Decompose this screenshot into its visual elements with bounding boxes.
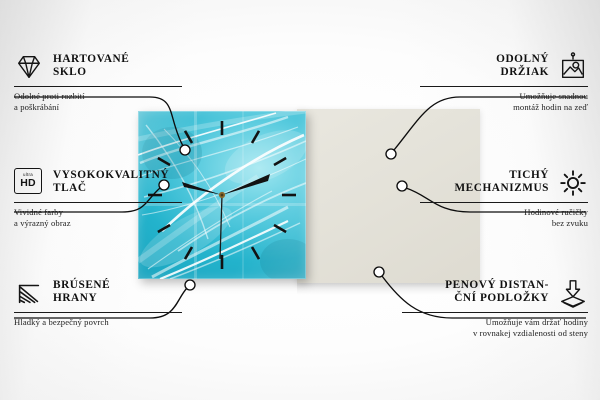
feature-desc-line1: Hladký a bezpečný povrch [14,317,109,327]
feature-desc-line1: Vividné farby [14,207,63,217]
feature-desc-line1: Umožňuje vám držať hodiny [486,317,588,327]
feature-heading: HARTOVANÉ SKLO [14,52,182,82]
feature-divider [402,312,588,313]
feature-divider [420,202,588,203]
feature-desc-line1: Hodinové ručičky [524,207,588,217]
feature-title-line1: PENOVÝ DISTAN- [445,279,549,291]
feature-title: BRÚSENÉ HRANY [53,278,110,306]
feature-description: Hodinové ručičky bez zvuku [420,207,588,229]
diamond-icon [14,52,44,82]
feature-title-line2: DRŽIAK [501,66,550,78]
feature-title-line2: TLAČ [53,182,87,194]
feature-beveled-edges: BRÚSENÉ HRANY Hladký a bezpečný povrch [14,278,182,328]
feature-description: Vividné farby a výrazný obraz [14,207,182,229]
feature-silent-mechanism: TICHÝ MECHANIZMUS Hodinové ručičky bez z… [420,168,588,229]
feature-title-line1: VYSOKOKVALITNÝ [53,169,169,181]
feature-foam-spacers: PENOVÝ DISTAN- ČNÍ PODLOŽKY Umožňuje vám… [402,278,588,339]
feature-description: Odolné proti rozbití a poškrábání [14,91,182,113]
feature-heading: ODOLNÝ DRŽIAK [420,52,588,82]
gear-icon [558,168,588,198]
feature-desc-line2: v rovnakej vzdialenosti od steny [473,328,588,338]
feature-title-line1: BRÚSENÉ [53,279,110,291]
feature-title-line1: HARTOVANÉ [53,53,129,65]
feature-description: Umožňuje snadnou montáž hodin na zeď [420,91,588,113]
feature-durable-hanger: ODOLNÝ DRŽIAK Umožňuje snadnou montáž ho… [420,52,588,113]
feature-desc-line2: montáž hodin na zeď [513,102,588,112]
feature-desc-line1: Umožňuje snadnou [519,91,588,101]
ultra-hd-badge-icon: ultra HD [14,168,44,198]
feature-divider [14,86,182,87]
feature-title-line1: ODOLNÝ [496,53,549,65]
feature-divider [14,312,182,313]
feature-desc-line2: a výrazný obraz [14,218,71,228]
feature-title-line2: SKLO [53,66,87,78]
feature-divider [420,86,588,87]
feature-heading: TICHÝ MECHANIZMUS [420,168,588,198]
infographic-canvas: HARTOVANÉ SKLO Odolné proti rozbití a po… [0,0,600,400]
feature-title: ODOLNÝ DRŽIAK [496,52,549,80]
feature-description: Umožňuje vám držať hodiny v rovnakej vzd… [402,317,588,339]
feature-tempered-glass: HARTOVANÉ SKLO Odolné proti rozbití a po… [14,52,182,113]
beveled-edges-icon [14,278,44,308]
feature-title-line2: HRANY [53,292,97,304]
feature-heading: BRÚSENÉ HRANY [14,278,182,308]
feature-heading: PENOVÝ DISTAN- ČNÍ PODLOŽKY [402,278,588,308]
picture-hanger-icon [558,52,588,82]
feature-title: PENOVÝ DISTAN- ČNÍ PODLOŽKY [445,278,549,306]
feature-title-line1: TICHÝ [509,169,549,181]
feature-desc-line2: a poškrábání [14,102,59,112]
feature-title-line2: MECHANIZMUS [454,182,549,194]
feature-heading: ultra HD VYSOKOKVALITNÝ TLAČ [14,168,182,198]
feature-divider [14,202,182,203]
hd-badge-large-text: HD [20,178,36,189]
feature-title: VYSOKOKVALITNÝ TLAČ [53,168,169,196]
feature-title: HARTOVANÉ SKLO [53,52,129,80]
feature-desc-line2: bez zvuku [552,218,588,228]
feature-desc-line1: Odolné proti rozbití [14,91,85,101]
feature-title-line2: ČNÍ PODLOŽKY [454,292,549,304]
foam-spacer-icon [558,278,588,308]
feature-title: TICHÝ MECHANIZMUS [454,168,549,196]
feature-hq-print: ultra HD VYSOKOKVALITNÝ TLAČ Vividné far… [14,168,182,229]
feature-description: Hladký a bezpečný povrch [14,317,182,328]
